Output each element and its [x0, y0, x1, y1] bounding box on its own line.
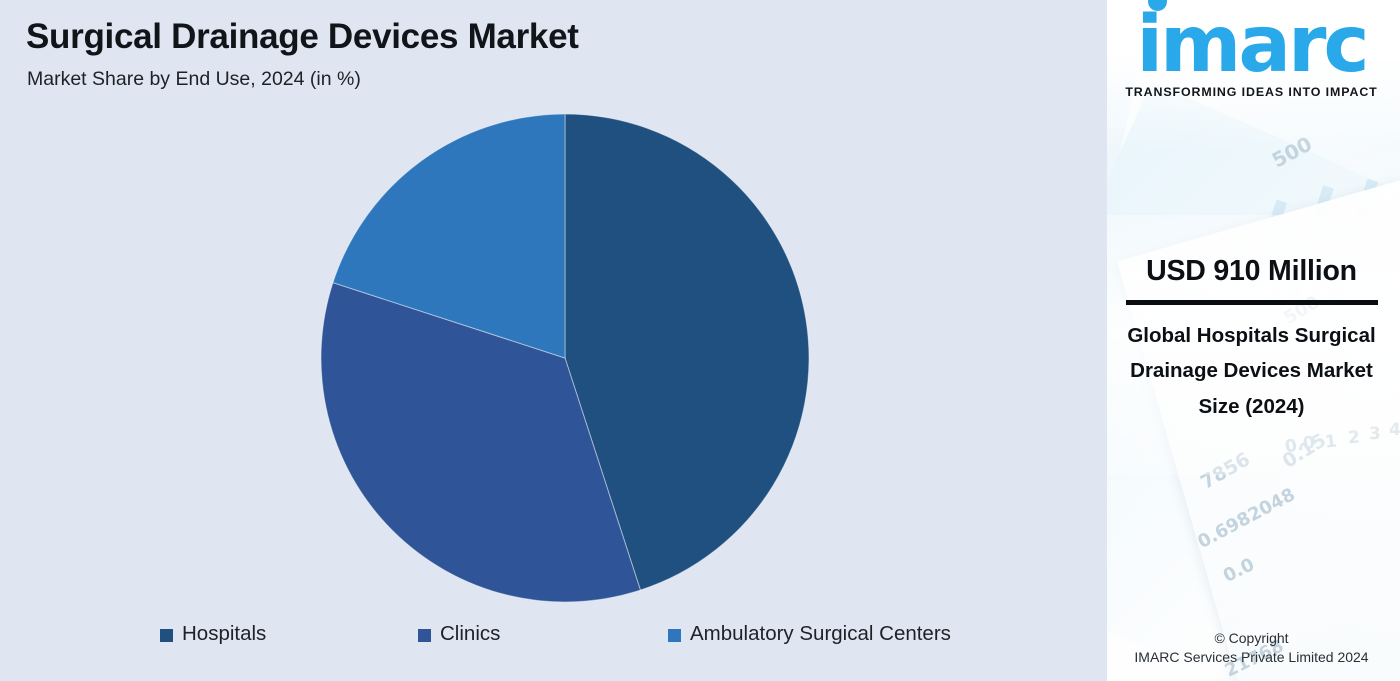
chart-legend: Hospitals Clinics Ambulatory Surgical Ce…	[160, 622, 990, 646]
page-title: Surgical Drainage Devices Market	[26, 17, 579, 57]
legend-swatch-icon	[418, 629, 431, 642]
stat-divider	[1126, 300, 1378, 305]
legend-swatch-icon	[668, 629, 681, 642]
chart-panel: Surgical Drainage Devices Market Market …	[0, 0, 1103, 681]
pie-chart	[321, 114, 809, 602]
legend-item-clinics[interactable]: Clinics	[418, 622, 668, 646]
chart-canvas: Surgical Drainage Devices Market Market …	[0, 0, 1400, 681]
legend-swatch-icon	[160, 629, 173, 642]
pie-svg	[321, 114, 809, 602]
legend-item-hospitals[interactable]: Hospitals	[160, 622, 418, 646]
legend-item-ambulatory-surgical-centers[interactable]: Ambulatory Surgical Centers	[668, 622, 951, 646]
chart-subtitle: Market Share by End Use, 2024 (in %)	[27, 68, 361, 91]
stat-value: USD 910 Million	[1115, 255, 1388, 288]
legend-label: Hospitals	[182, 622, 266, 646]
brand-panel: 500 0.15 7856 0.6982048 0.0 21768 0.0 1 …	[1103, 0, 1400, 681]
copyright-line-2: IMARC Services Private Limited 2024	[1103, 649, 1400, 665]
imarc-logo: imarc TRANSFORMING IDEAS INTO IMPACT	[1103, 8, 1400, 99]
copyright-line-1: © Copyright	[1103, 630, 1400, 646]
logo-mark: imarc	[1136, 8, 1366, 82]
logo-wordmark: imarc	[1136, 8, 1366, 82]
legend-label: Clinics	[440, 622, 500, 646]
copyright: © Copyright IMARC Services Private Limit…	[1103, 630, 1400, 665]
stat-block: USD 910 Million Global Hospitals Surgica…	[1103, 255, 1400, 424]
legend-label: Ambulatory Surgical Centers	[690, 622, 951, 646]
stat-description: Global Hospitals Surgical Drainage Devic…	[1115, 318, 1388, 424]
